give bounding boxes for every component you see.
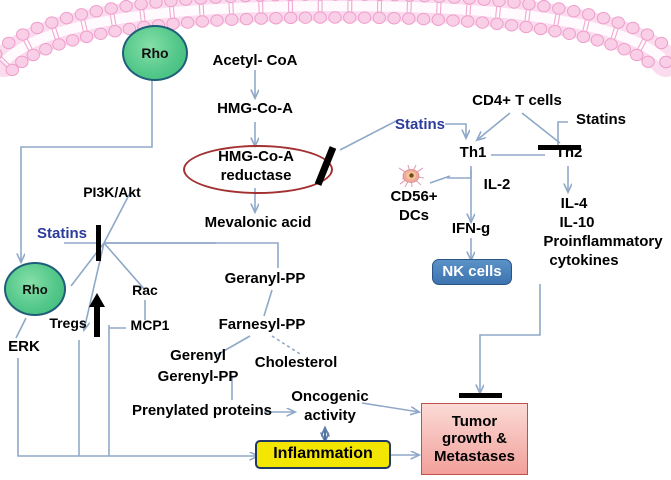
statins-th2-label: Statins — [576, 112, 626, 129]
geranyl-pp-label: Geranyl-PP — [225, 271, 306, 288]
cytokines-label: cytokines — [549, 253, 618, 270]
il2-label: IL-2 — [484, 177, 511, 194]
gerenyl-label-line1: Gerenyl — [170, 348, 226, 365]
proinflammatory-label: Proinflammatory — [543, 234, 662, 251]
hmg-coa-reductase-label-line1: HMG-Co-A — [218, 149, 294, 166]
nk-cells-label: NK cells — [442, 263, 501, 280]
hmg-coa-label: HMG-Co-A — [217, 101, 293, 118]
rac-label: Rac — [132, 283, 158, 299]
rho-membrane-label: Rho — [141, 45, 168, 61]
oncogenic-activity-label-line1: Oncogenic — [291, 389, 369, 406]
inflammation-label: Inflammation — [273, 445, 373, 463]
mevalonic-acid-label: Mevalonic acid — [205, 215, 312, 232]
tumor-label-line3: Metastases — [434, 448, 515, 465]
th1-label: Th1 — [460, 145, 487, 162]
cd56-dcs-label-line2: DCs — [399, 208, 429, 225]
dendritic-cell-icon — [396, 163, 426, 189]
mcp1-label: MCP1 — [131, 318, 170, 334]
tumor-label-line1: Tumor — [452, 413, 498, 430]
rho-cytosol-label: Rho — [22, 282, 47, 297]
tumor-growth-box: Tumor growth & Metastases — [421, 403, 528, 475]
farnesyl-pp-label: Farnesyl-PP — [219, 317, 306, 334]
gerenyl-label-line2: Gerenyl-PP — [158, 369, 239, 386]
inflammation-box: Inflammation — [255, 440, 391, 469]
il4-label: IL-4 — [561, 196, 588, 213]
cd4-t-cells-label: CD4+ T cells — [472, 93, 562, 110]
th2-label: Th2 — [556, 145, 583, 162]
rho-cytosol-cell: Rho — [4, 262, 66, 316]
statins-th1-label: Statins — [395, 117, 445, 134]
cd56-dcs-label-line1: CD56+ — [390, 189, 437, 206]
inhibition-bar-statins-left-icon — [96, 225, 101, 261]
nk-cells-box: NK cells — [432, 259, 512, 285]
oncogenic-activity-label-line2: activity — [304, 408, 356, 425]
prenylated-proteins-label: Prenylated proteins — [132, 403, 272, 420]
acetyl-coa-label: Acetyl- CoA — [212, 53, 297, 70]
tumor-label-line2: growth & — [442, 430, 507, 447]
connector-group-right — [340, 113, 568, 393]
connector-farnesyl-cholesterol — [272, 336, 300, 354]
ifn-g-label: IFN-g — [452, 221, 490, 238]
statins-left-label: Statins — [37, 226, 87, 243]
tregs-label: Tregs — [49, 316, 86, 332]
plasma-membrane-icon — [0, 0, 671, 76]
rho-membrane-cell: Rho — [122, 25, 188, 81]
pathway-diagram-figure: Rho Rho Acetyl- CoA HMG-Co-A HMG-Co-A re… — [0, 0, 671, 480]
il10-label: IL-10 — [559, 215, 594, 232]
erk-label: ERK — [8, 339, 40, 356]
hmg-coa-reductase-label-line2: reductase — [221, 168, 292, 185]
inhibition-bar-tumor-icon — [459, 393, 502, 398]
tregs-up-arrow-icon — [88, 292, 106, 338]
cholesterol-label: Cholesterol — [255, 355, 338, 372]
pi3k-akt-label: PI3K/Akt — [83, 185, 141, 201]
